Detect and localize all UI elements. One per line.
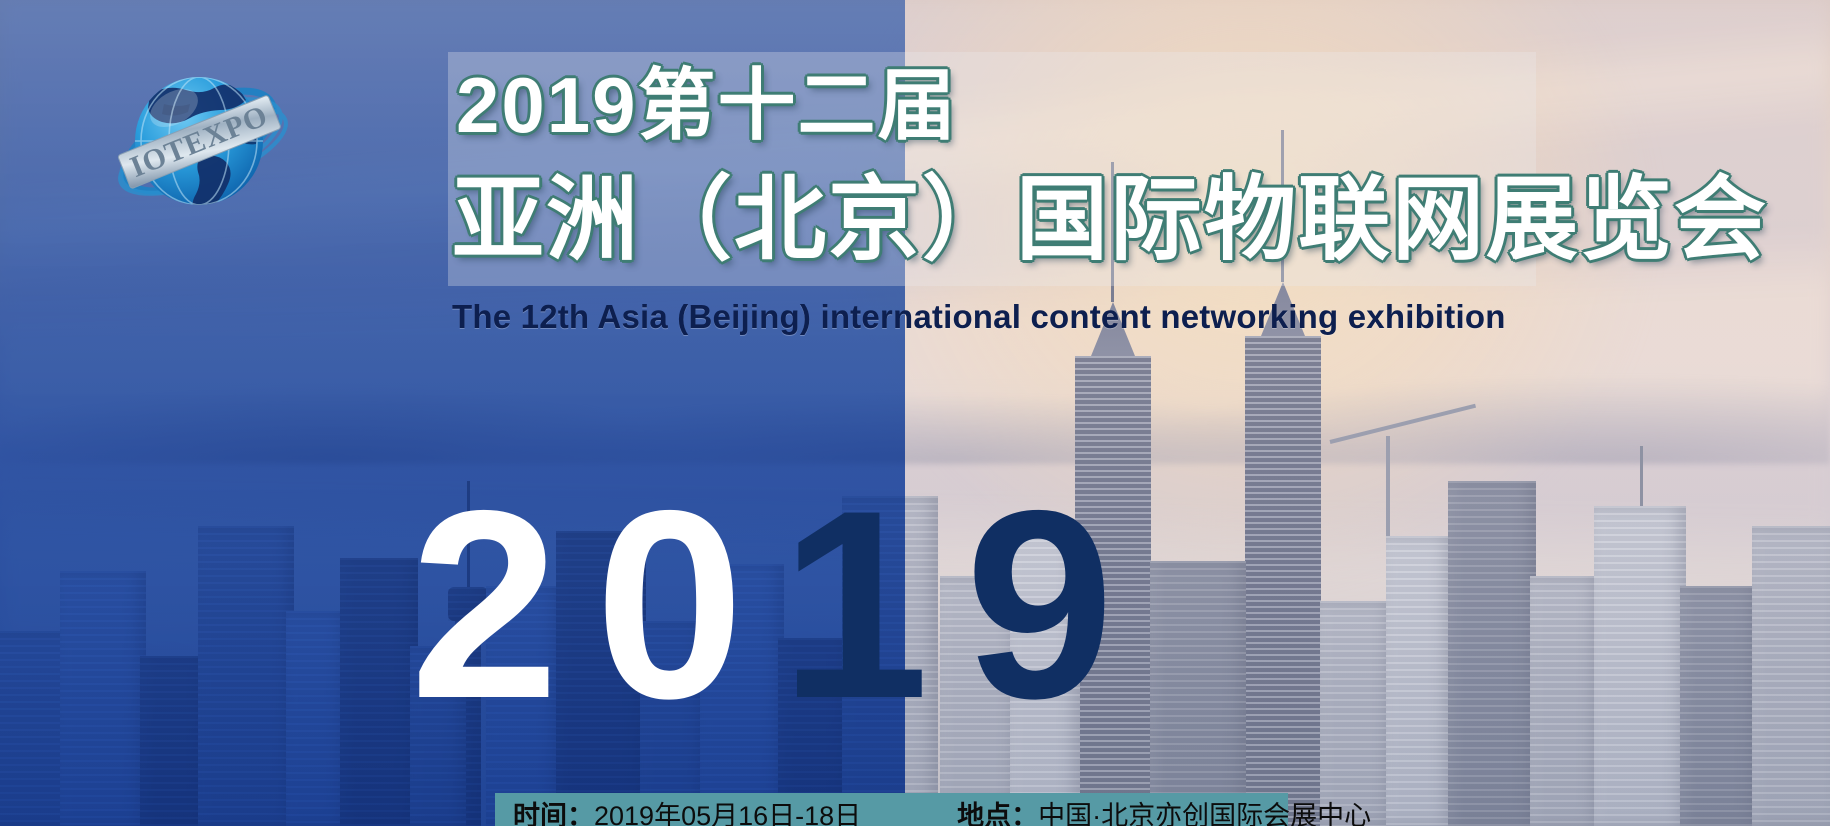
- event-poster: IOTEXPO 2019第十二届 亚洲（北京）国际物联网展览会 The 12th…: [0, 0, 1830, 826]
- place-value: 中国·北京亦创国际会展中心: [1038, 794, 1371, 826]
- place-label: 地点：: [957, 794, 1038, 826]
- event-place: 地点： 中国·北京亦创国际会展中心: [957, 794, 1371, 826]
- title-line-2-chinese: 亚洲（北京）国际物联网展览会: [448, 164, 1536, 276]
- year-display: 2019: [410, 470, 1150, 738]
- year-second-half: 19: [780, 454, 1150, 754]
- time-value: 2019年05月16日-18日: [594, 794, 861, 826]
- iotexpo-globe-logo: IOTEXPO: [104, 46, 294, 236]
- title-overlay-panel: 2019第十二届 亚洲（北京）国际物联网展览会: [448, 52, 1536, 286]
- time-label: 时间：: [513, 794, 594, 826]
- title-english-subtitle: The 12th Asia (Beijing) international co…: [452, 298, 1506, 336]
- event-info-bar: 时间： 2019年05月16日-18日 地点： 中国·北京亦创国际会展中心: [495, 793, 1288, 826]
- event-time: 时间： 2019年05月16日-18日: [513, 794, 861, 826]
- title-line-1-chinese: 2019第十二届: [448, 58, 1536, 152]
- year-first-half: 20: [410, 454, 780, 754]
